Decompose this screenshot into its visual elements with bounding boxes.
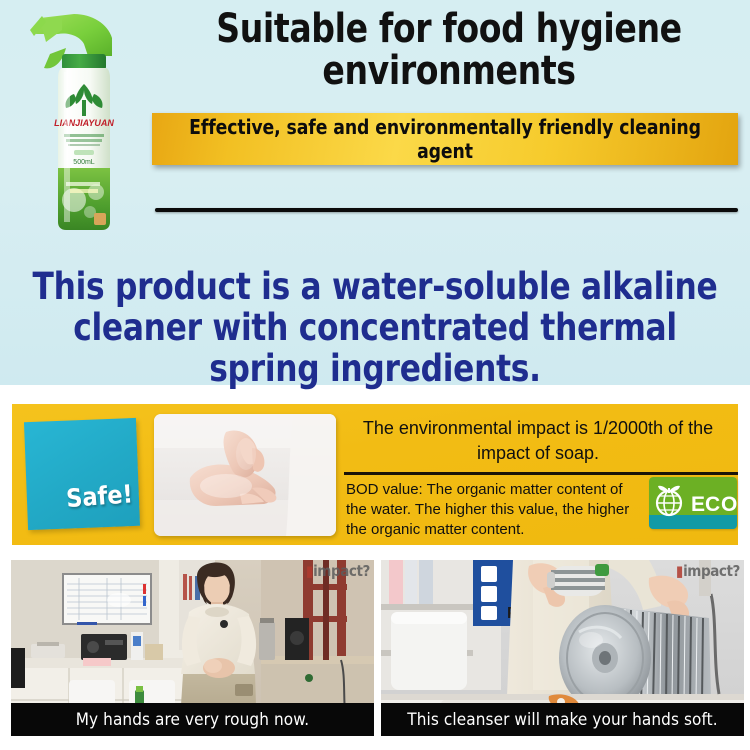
promotional-product-page: LIANJIAYUAN 500mL Suitable for food hygi… [0,0,750,750]
svg-text:E: E [691,493,705,516]
impact-watermark: ▮impact? [306,562,370,580]
impact-heading: The environmental impact is 1/2000th of … [344,416,732,466]
comparison-divider [344,472,738,475]
caption-text-left: My hands are very rough now. [76,710,309,730]
comparison-section: Safe! [12,404,738,545]
svg-text:O: O [721,493,737,516]
product-bottle-image: LIANJIAYUAN 500mL [22,8,142,236]
svg-text:LIANJIAYUAN: LIANJIAYUAN [54,118,114,128]
caption-bar-left: My hands are very rough now. [11,703,374,736]
video-frame-left[interactable]: ▮impact? My hands are very rough now. [11,560,374,736]
header-divider [155,208,738,212]
globe-leaf-icon: E C O [649,477,737,529]
hands-photo-graphic [154,414,336,536]
video-frame-right[interactable]: PC [381,560,744,736]
tagline-text: Effective, safe and environmentally frie… [164,115,727,163]
impact-watermark: ▮impact? [676,562,740,580]
hands-lotion-photo: BOI comparison [154,414,336,536]
product-statement: This product is a water-soluble alkaline… [30,266,720,389]
spray-bottle-icon: LIANJIAYUAN 500mL [22,8,142,236]
safe-label: Safe! [26,479,134,516]
svg-text:500mL: 500mL [73,159,95,166]
safe-badge: Safe! [24,418,140,530]
eco-logo: E C O [649,477,737,529]
caption-bar-right: This cleanser will make your hands soft. [381,703,744,736]
bod-description: BOD value: The organic matter content of… [346,480,636,540]
page-headline: Suitable for food hygiene environments [183,8,715,92]
caption-text-right: This cleanser will make your hands soft. [407,710,717,730]
svg-text:C: C [705,493,720,516]
header-section: LIANJIAYUAN 500mL Suitable for food hygi… [0,0,750,385]
tagline-banner: Effective, safe and environmentally frie… [152,113,738,165]
